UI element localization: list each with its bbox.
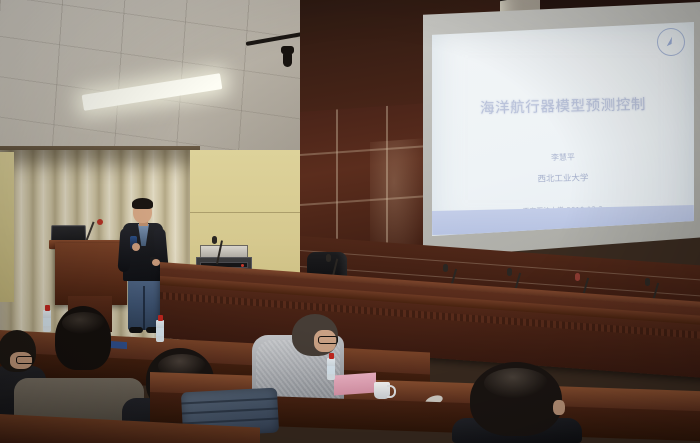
gooseneck-mic-head-4 <box>645 278 650 286</box>
presenter-hand-left <box>132 243 140 251</box>
pink-document <box>334 373 376 396</box>
gooseneck-mic-head-1 <box>443 264 448 272</box>
attendee-left-front-hair-highlight <box>62 312 106 334</box>
presentation-slide: 海洋航行器模型预测控制 李慧平 西北工业大学 西安石油大学 2019.12.2 <box>432 22 694 236</box>
attendee-left-glasses-eyewear <box>16 356 34 364</box>
water-bottle-3 <box>327 358 335 380</box>
university-emblem-icon <box>657 28 686 57</box>
attendee-right-front-ear <box>553 400 565 415</box>
gooseneck-mic-head-5 <box>212 236 217 244</box>
slide-affiliation: 西北工业大学 <box>440 169 686 187</box>
slide-author: 李慧平 <box>440 149 686 166</box>
projection-screen: 海洋航行器模型预测控制 李慧平 西北工业大学 西安石油大学 2019.12.2 <box>432 22 694 236</box>
lectern-microphone-tip-icon <box>97 219 103 225</box>
gooseneck-mic-head-3 <box>575 273 580 281</box>
slide-title: 海洋航行器模型预测控制 <box>440 92 686 119</box>
presenter-hair <box>132 198 153 209</box>
track-spotlight-1 <box>283 52 292 67</box>
white-mug <box>374 382 390 399</box>
attendee-right-front-hair-highlight <box>484 368 548 398</box>
wall-panel-left-edge <box>0 152 14 302</box>
gooseneck-mic-head-2 <box>507 268 512 276</box>
attendee-grey-sweater-eyewear <box>318 336 338 344</box>
water-bottle-2 <box>156 320 164 342</box>
gooseneck-mic-head-6 <box>326 254 331 262</box>
water-bottle-1 <box>43 310 51 332</box>
presenter-hand-right <box>152 259 160 266</box>
lecture-hall-photo: 海洋航行器模型预测控制 李慧平 西北工业大学 西安石油大学 2019.12.2 <box>0 0 700 443</box>
presenter-shoe-left <box>129 327 143 333</box>
